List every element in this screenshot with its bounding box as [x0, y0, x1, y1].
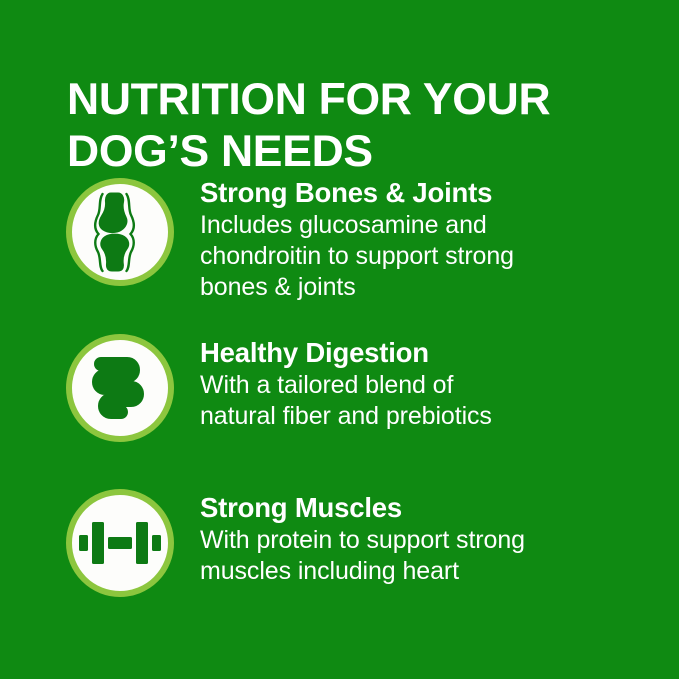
dumbbell-icon — [79, 519, 161, 567]
feature-text-block: Healthy Digestion With a tailored blend … — [200, 336, 630, 432]
feature-description: Includes glucosamine and chondroitin to … — [200, 210, 630, 303]
feature-description: With protein to support strong muscles i… — [200, 525, 630, 587]
infographic-panel: NUTRITION FOR YOUR DOG’S NEEDS — [0, 0, 679, 679]
intestine-icon-badge — [66, 334, 174, 442]
feature-item-strong-muscles: Strong Muscles With protein to support s… — [0, 489, 679, 644]
feature-item-healthy-digestion: Healthy Digestion With a tailored blend … — [0, 334, 679, 489]
dumbbell-icon-badge — [66, 489, 174, 597]
feature-text-block: Strong Bones & Joints Includes glucosami… — [200, 176, 630, 303]
bone-joint-icon — [89, 191, 151, 273]
page-title: NUTRITION FOR YOUR DOG’S NEEDS — [67, 74, 647, 178]
feature-description: With a tailored blend of natural fiber a… — [200, 370, 630, 432]
feature-item-bones-joints: Strong Bones & Joints Includes glucosami… — [0, 178, 679, 334]
feature-title: Healthy Digestion — [200, 336, 630, 370]
feature-list: Strong Bones & Joints Includes glucosami… — [0, 178, 679, 644]
intestine-icon — [87, 350, 153, 426]
feature-title: Strong Muscles — [200, 491, 630, 525]
feature-title: Strong Bones & Joints — [200, 176, 630, 210]
feature-text-block: Strong Muscles With protein to support s… — [200, 491, 630, 587]
bone-joint-icon-badge — [66, 178, 174, 286]
